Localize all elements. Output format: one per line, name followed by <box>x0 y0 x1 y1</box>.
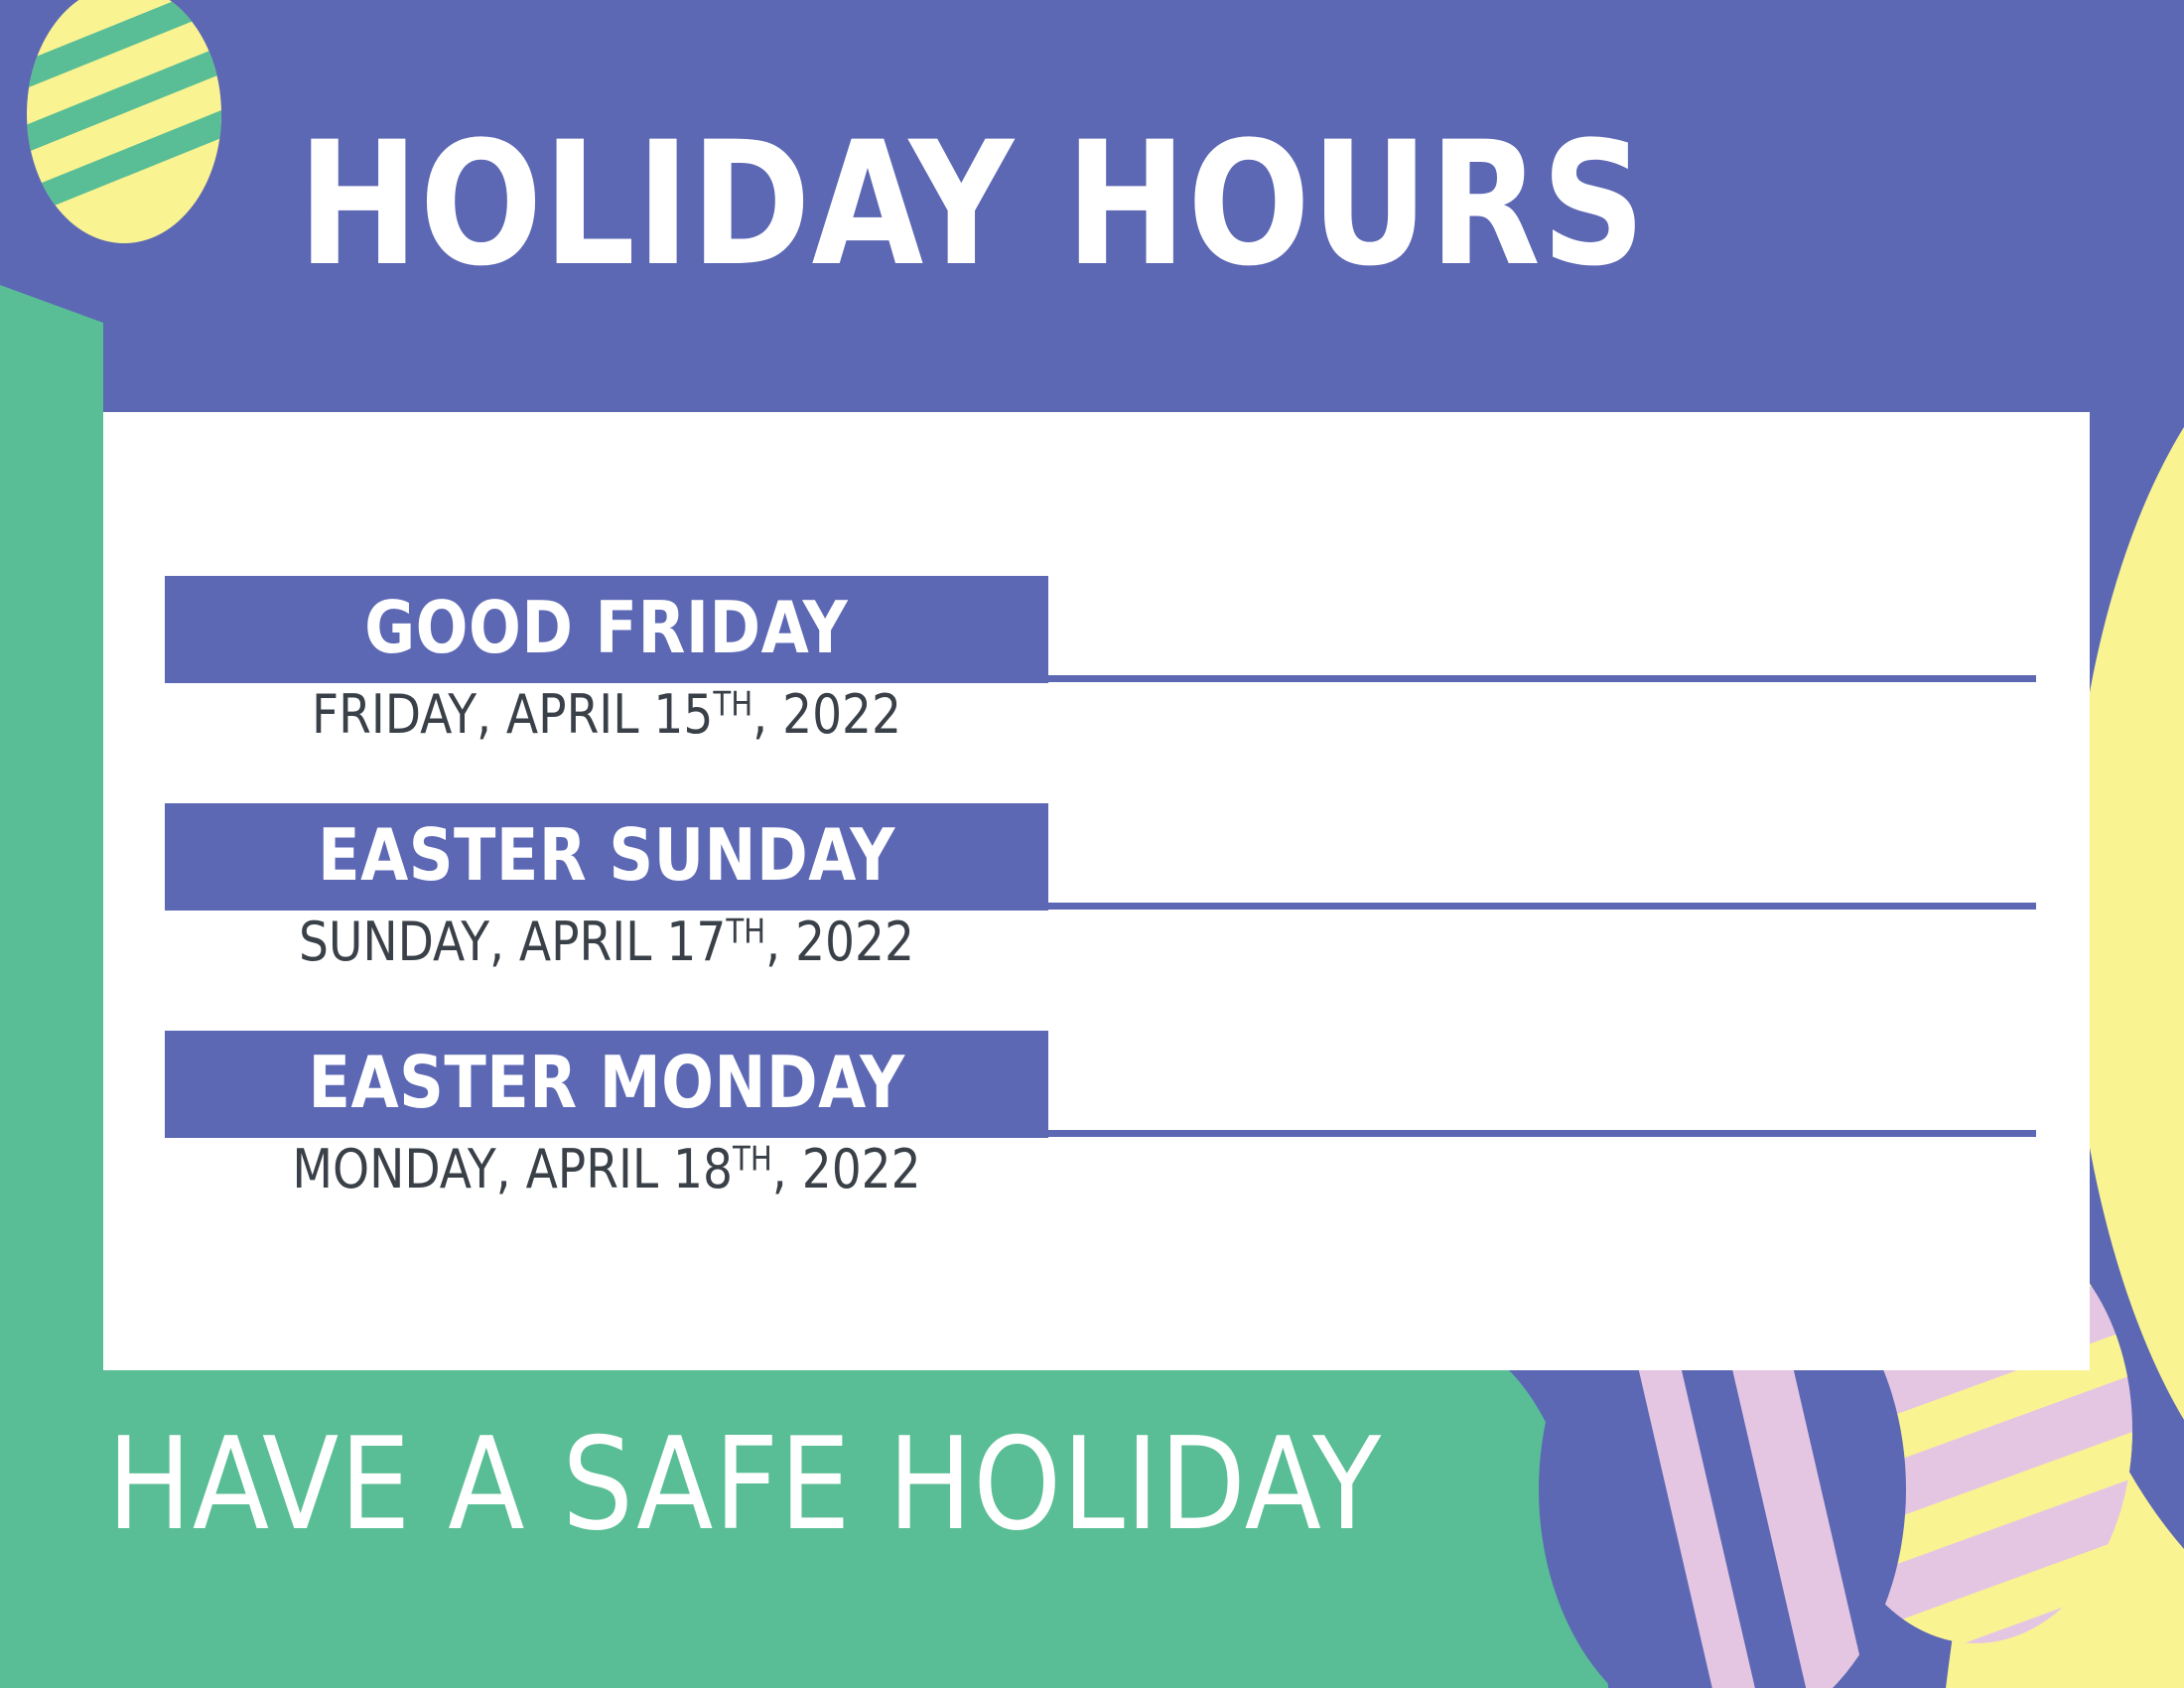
holiday-date-ordinal: TH <box>726 913 765 951</box>
holiday-date-ordinal: TH <box>713 685 752 724</box>
holiday-row: EASTER SUNDAY SUNDAY, APRIL 17TH, 2022 <box>165 803 2061 911</box>
holiday-date-weekday: FRIDAY, APRIL 15 <box>312 683 713 746</box>
page-title: HOLIDAY HOURS <box>298 119 1646 290</box>
holiday-date: MONDAY, APRIL 18TH, 2022 <box>178 1142 1034 1198</box>
holiday-name: EASTER MONDAY <box>308 1047 904 1118</box>
holiday-name-banner: EASTER SUNDAY <box>165 803 1048 911</box>
holiday-name: EASTER SUNDAY <box>318 819 895 891</box>
holiday-date-ordinal: TH <box>733 1140 772 1179</box>
hours-write-in-line[interactable] <box>1048 675 2036 682</box>
holiday-row: GOOD FRIDAY FRIDAY, APRIL 15TH, 2022 <box>165 576 2061 683</box>
holiday-date-year: , 2022 <box>765 911 914 973</box>
holiday-name: GOOD FRIDAY <box>365 592 849 663</box>
holiday-hours-poster: HOLIDAY HOURS GOOD FRIDAY FRIDAY, APRIL … <box>0 0 2184 1688</box>
holiday-date-weekday: MONDAY, APRIL 18 <box>292 1138 733 1200</box>
hours-write-in-line[interactable] <box>1048 903 2036 910</box>
holiday-name-banner: GOOD FRIDAY <box>165 576 1048 683</box>
holiday-name-banner: EASTER MONDAY <box>165 1031 1048 1138</box>
holiday-date-year: , 2022 <box>772 1138 921 1200</box>
hours-write-in-line[interactable] <box>1048 1130 2036 1137</box>
holiday-date-weekday: SUNDAY, APRIL 17 <box>299 911 726 973</box>
holiday-date: SUNDAY, APRIL 17TH, 2022 <box>178 914 1034 971</box>
holiday-date: FRIDAY, APRIL 15TH, 2022 <box>178 687 1034 744</box>
footer-message: HAVE A SAFE HOLIDAY <box>107 1422 1382 1549</box>
holiday-row: EASTER MONDAY MONDAY, APRIL 18TH, 2022 <box>165 1031 2061 1138</box>
holiday-date-year: , 2022 <box>752 683 901 746</box>
